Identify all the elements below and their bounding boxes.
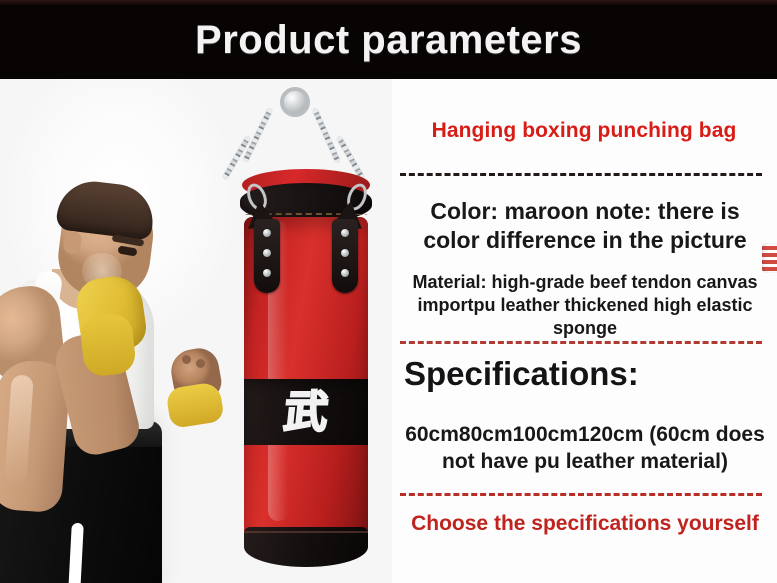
boxer-figure	[0, 103, 236, 583]
page-title: Product parameters	[195, 20, 582, 60]
cropped-edge-object	[762, 243, 777, 273]
boxer-knuckle	[196, 359, 205, 368]
product-headline: Hanging boxing punching bag	[404, 119, 764, 143]
punching-bag: 武	[218, 79, 392, 583]
bag-stud	[341, 269, 349, 277]
product-photo: 武	[0, 79, 392, 583]
bag-stud	[263, 229, 271, 237]
product-parameters-infographic: Product parameters	[0, 0, 777, 583]
bag-stud	[263, 269, 271, 277]
bag-bottom-seam	[244, 531, 368, 533]
bag-stud	[341, 249, 349, 257]
material-text: Material: high-grade beef tendon canvas …	[396, 271, 774, 340]
boxer-hand-wrap-right	[165, 381, 225, 429]
specification-sizes-text: 60cm80cm100cm120cm (60cm does not have p…	[402, 421, 768, 476]
bag-stud	[263, 249, 271, 257]
boxer-knuckle	[182, 355, 191, 364]
header-banner: Product parameters	[0, 0, 777, 79]
product-info-panel: Hanging boxing punching bag Color: maroo…	[392, 79, 777, 583]
boxer-hand-wrap-left-lower	[79, 312, 137, 377]
color-note-text: Color: maroon note: there is color diffe…	[402, 197, 768, 254]
bag-stud	[341, 229, 349, 237]
bag-bottom-cap	[244, 527, 368, 567]
bag-logo-glyph: 武	[263, 387, 348, 439]
chain-link-right-upper	[312, 108, 340, 163]
chain-link-left-upper	[243, 108, 273, 162]
specifications-heading: Specifications:	[404, 357, 639, 390]
hanging-ring-icon	[280, 87, 310, 117]
call-to-action-text: Choose the specifications yourself	[402, 513, 768, 534]
